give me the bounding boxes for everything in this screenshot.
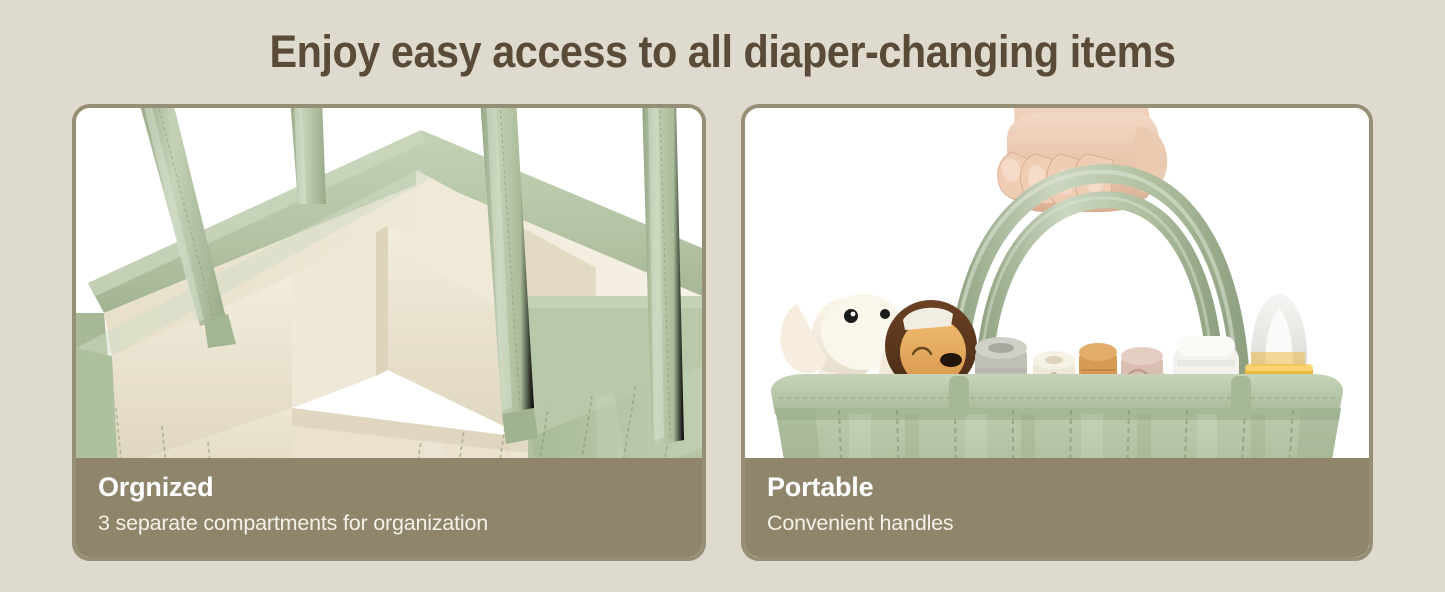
feature-card-portable: Portable Convenient handles — [741, 104, 1373, 561]
page-title: Enjoy easy access to all diaper-changing… — [58, 22, 1387, 82]
product-feature-banner: Enjoy easy access to all diaper-changing… — [0, 0, 1445, 592]
caption-subtitle: Convenient handles — [767, 508, 1347, 538]
caption-organized: Orgnized 3 separate compartments for org… — [76, 458, 702, 557]
feature-card-organized: Orgnized 3 separate compartments for org… — [72, 104, 706, 561]
caption-title: Portable — [767, 470, 1347, 504]
caption-subtitle: 3 separate compartments for organization — [98, 508, 680, 538]
caption-portable: Portable Convenient handles — [745, 458, 1369, 557]
caption-title: Orgnized — [98, 470, 680, 504]
